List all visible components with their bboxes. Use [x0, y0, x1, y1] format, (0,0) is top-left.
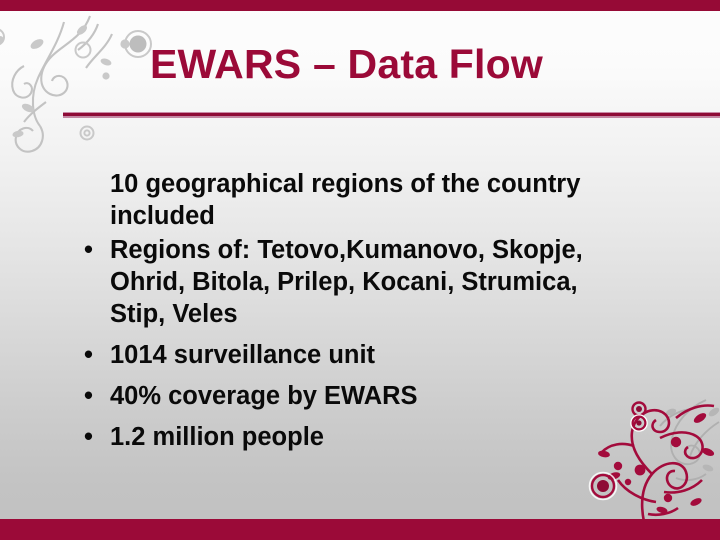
slide-title: EWARS – Data Flow: [150, 40, 710, 88]
list-item-line: 1014 surveillance unit: [110, 339, 678, 371]
list-item-line: Regions of: Tetovo,Kumanovo, Skopje,: [110, 234, 678, 266]
slide-canvas: EWARS – Data Flow 10 geographical region…: [0, 0, 720, 540]
top-accent-bar: [0, 0, 720, 11]
list-item-line: 40% coverage by EWARS: [110, 380, 678, 412]
list-item-line: Ohrid, Bitola, Prilep, Kocani, Strumica,: [110, 266, 678, 298]
list-item: • 1.2 million people: [78, 421, 678, 453]
bullet-marker: •: [84, 339, 100, 371]
list-item: • Regions of: Tetovo,Kumanovo, Skopje, O…: [78, 234, 678, 330]
list-item: • 40% coverage by EWARS: [78, 380, 678, 412]
list-item-line: 10 geographical regions of the country: [110, 168, 678, 200]
list-item: • 1014 surveillance unit: [78, 339, 678, 371]
bottom-accent-bar: [0, 519, 720, 540]
list-item: 10 geographical regions of the country i…: [78, 168, 678, 232]
divider-highlight-bottom: [63, 116, 720, 118]
title-divider-rule: [63, 112, 720, 118]
list-item-line: 1.2 million people: [110, 421, 678, 453]
list-item-line: Stip, Veles: [110, 298, 678, 330]
spacer: [78, 332, 678, 339]
bullet-list: 10 geographical regions of the country i…: [78, 168, 678, 455]
bullet-marker: •: [84, 421, 100, 453]
list-item-line: included: [110, 200, 678, 232]
spacer: [78, 373, 678, 380]
bullet-marker: •: [84, 234, 100, 266]
spacer: [78, 414, 678, 421]
bullet-marker: •: [84, 380, 100, 412]
